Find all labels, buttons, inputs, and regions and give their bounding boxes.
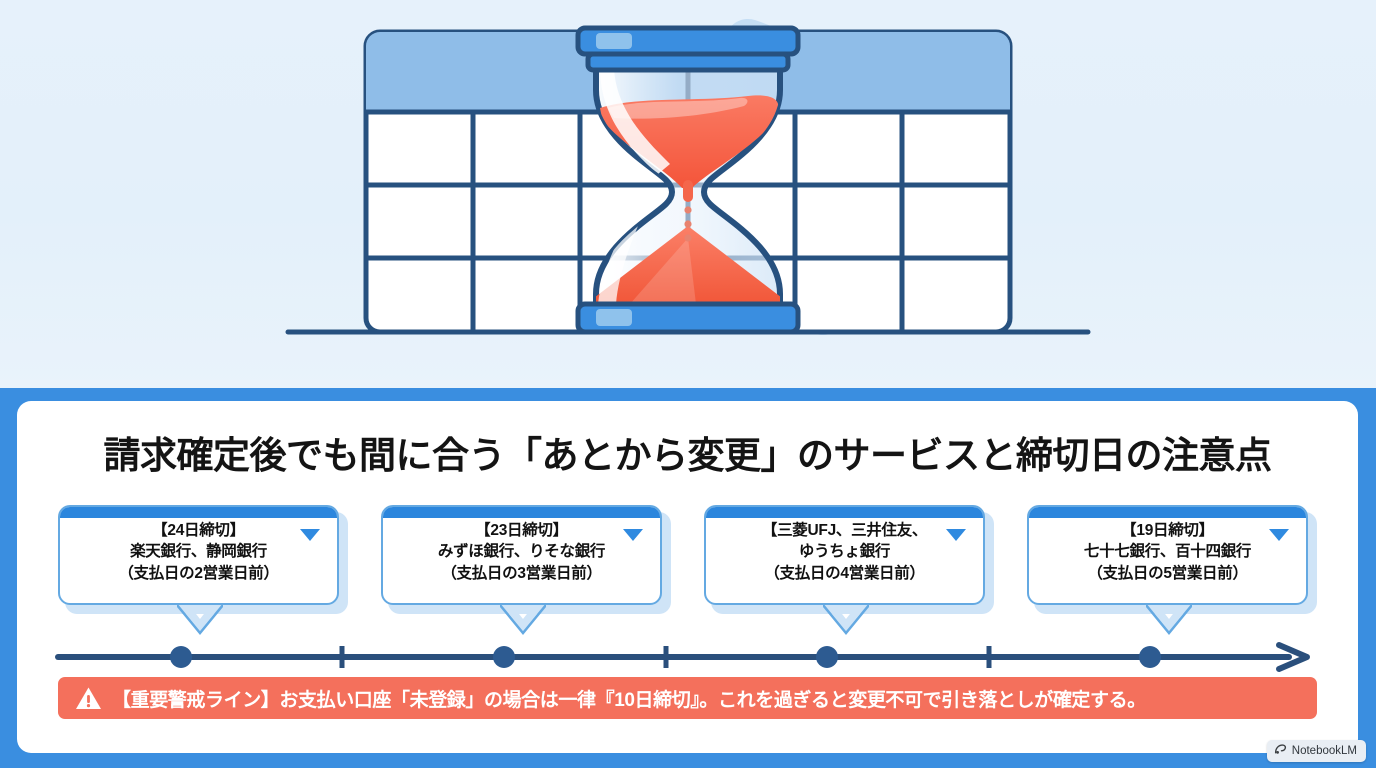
triangle-down-icon[interactable] <box>300 529 320 541</box>
card-body: 【23日締切】 みずほ銀行、りそな銀行 （支払日の3営業日前） <box>381 505 662 605</box>
card-note: （支払日の3営業日前） <box>383 563 660 584</box>
hero-illustration-area <box>0 0 1376 388</box>
card-body: 【24日締切】 楽天銀行、静岡銀行 （支払日の2営業日前） <box>58 505 339 605</box>
triangle-down-icon[interactable] <box>946 529 966 541</box>
timeline-marker[interactable] <box>493 646 515 668</box>
timeline-marker[interactable] <box>170 646 192 668</box>
notebooklm-badge[interactable]: NotebookLM <box>1267 740 1366 762</box>
slide-root: 請求確定後でも間に合う「あとから変更」のサービスと締切日の注意点 【24日締切】… <box>0 0 1376 768</box>
timeline-axis-svg <box>17 639 1358 675</box>
card-banks: みずほ銀行、りそな銀行 <box>383 541 660 562</box>
warning-text: 【重要警戒ライン】お支払い口座「未登録」の場合は一律『10日締切』。これを過ぎる… <box>112 685 1146 712</box>
card-note: （支払日の5営業日前） <box>1029 563 1306 584</box>
timeline-axis <box>17 639 1358 675</box>
timeline-card-1[interactable]: 【24日締切】 楽天銀行、静岡銀行 （支払日の2営業日前） <box>58 505 341 607</box>
card-text: 【23日締切】 みずほ銀行、りそな銀行 （支払日の3営業日前） <box>383 520 660 584</box>
timeline-card-2[interactable]: 【23日締切】 みずほ銀行、りそな銀行 （支払日の3営業日前） <box>381 505 664 607</box>
card-text: 【19日締切】 七十七銀行、百十四銀行 （支払日の5営業日前） <box>1029 520 1306 584</box>
card-deadline-label: 【三菱UFJ、三井住友、 <box>706 520 983 541</box>
triangle-down-icon[interactable] <box>623 529 643 541</box>
card-note: （支払日の2営業日前） <box>60 563 337 584</box>
warning-banner: 【重要警戒ライン】お支払い口座「未登録」の場合は一律『10日締切』。これを過ぎる… <box>58 677 1317 719</box>
timeline-card-3[interactable]: 【三菱UFJ、三井住友、 ゆうちょ銀行 （支払日の4営業日前） <box>704 505 987 607</box>
card-body: 【19日締切】 七十七銀行、百十四銀行 （支払日の5営業日前） <box>1027 505 1308 605</box>
timeline-card-4[interactable]: 【19日締切】 七十七銀行、百十四銀行 （支払日の5営業日前） <box>1027 505 1310 607</box>
card-pointer <box>177 605 223 635</box>
card-text: 【三菱UFJ、三井住友、 ゆうちょ銀行 （支払日の4営業日前） <box>706 520 983 584</box>
card-pointer <box>500 605 546 635</box>
content-card: 請求確定後でも間に合う「あとから変更」のサービスと締切日の注意点 【24日締切】… <box>17 401 1358 753</box>
card-note: （支払日の4営業日前） <box>706 563 983 584</box>
card-banks: 七十七銀行、百十四銀行 <box>1029 541 1306 562</box>
card-banks: 楽天銀行、静岡銀行 <box>60 541 337 562</box>
card-topbar <box>383 507 660 518</box>
timeline-marker[interactable] <box>1139 646 1161 668</box>
card-pointer <box>823 605 869 635</box>
timeline-marker[interactable] <box>816 646 838 668</box>
calendar-hourglass-illustration <box>278 12 1098 352</box>
timeline-cards: 【24日締切】 楽天銀行、静岡銀行 （支払日の2営業日前） 【23日締切】 <box>17 505 1358 635</box>
card-banks: ゆうちょ銀行 <box>706 541 983 562</box>
card-topbar <box>60 507 337 518</box>
card-deadline-label: 【19日締切】 <box>1029 520 1306 541</box>
card-deadline-label: 【24日締切】 <box>60 520 337 541</box>
notebooklm-icon <box>1274 743 1287 759</box>
card-topbar <box>706 507 983 518</box>
card-topbar <box>1029 507 1306 518</box>
card-pointer <box>1146 605 1192 635</box>
card-deadline-label: 【23日締切】 <box>383 520 660 541</box>
card-body: 【三菱UFJ、三井住友、 ゆうちょ銀行 （支払日の4営業日前） <box>704 505 985 605</box>
page-title: 請求確定後でも間に合う「あとから変更」のサービスと締切日の注意点 <box>17 425 1358 479</box>
warning-triangle-icon <box>75 686 102 711</box>
card-text: 【24日締切】 楽天銀行、静岡銀行 （支払日の2営業日前） <box>60 520 337 584</box>
triangle-down-icon[interactable] <box>1269 529 1289 541</box>
notebooklm-label: NotebookLM <box>1292 745 1357 757</box>
